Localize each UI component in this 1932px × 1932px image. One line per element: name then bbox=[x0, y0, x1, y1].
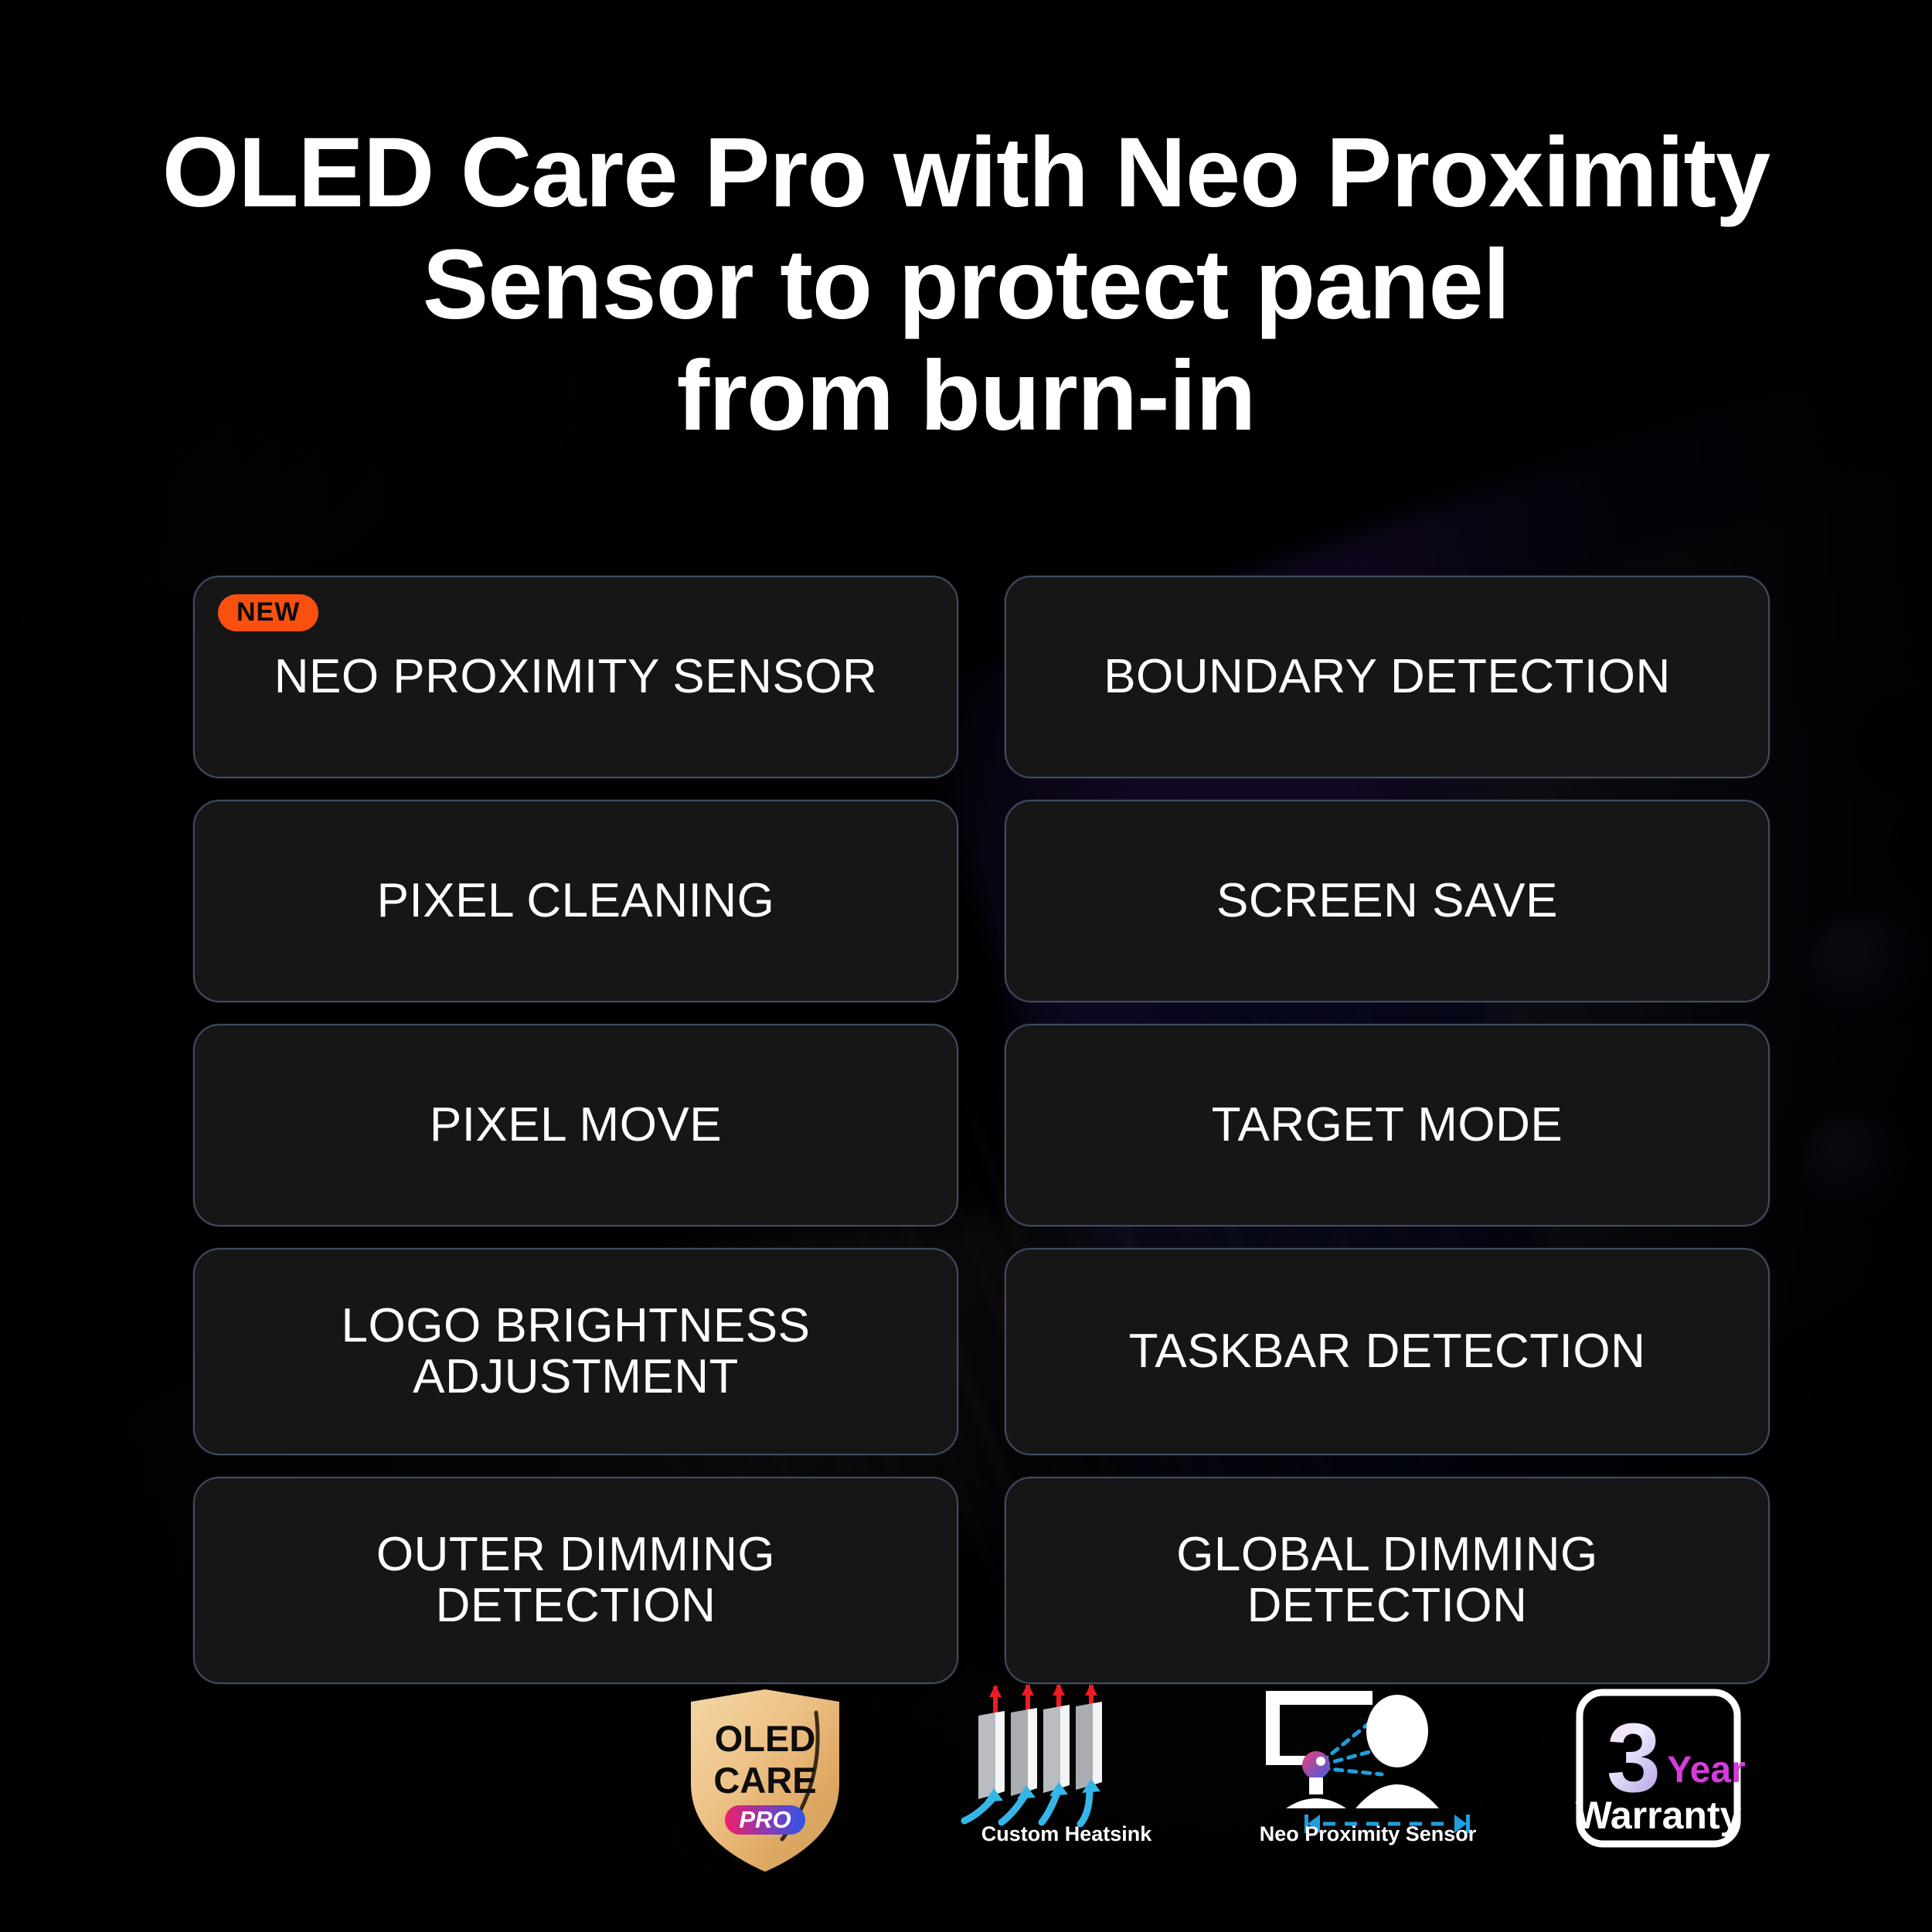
feature-card-grid: NEW NEO PROXIMITY SENSOR BOUNDARY DETECT… bbox=[193, 576, 1770, 1684]
page-title: OLED Care Pro with Neo Proximity Sensor … bbox=[0, 117, 1932, 453]
feature-card-label: PIXEL CLEANING bbox=[377, 876, 775, 927]
new-badge: NEW bbox=[218, 594, 318, 631]
feature-card-label: TASKBAR DETECTION bbox=[1129, 1326, 1646, 1377]
feature-card-global-dimming-detection[interactable]: GLOBAL DIMMING DETECTION bbox=[1005, 1477, 1770, 1684]
feature-card-label: PIXEL MOVE bbox=[430, 1100, 722, 1151]
heatsink-icon bbox=[951, 1685, 1182, 1839]
feature-card-label: NEO PROXIMITY SENSOR bbox=[274, 651, 878, 702]
custom-heatsink-badge bbox=[951, 1685, 1182, 1843]
promo-banner: OLED Care Pro with Neo Proximity Sensor … bbox=[0, 0, 1932, 1932]
feature-card-label: BOUNDARY DETECTION bbox=[1104, 651, 1671, 702]
feature-card-target-mode[interactable]: TARGET MODE bbox=[1005, 1024, 1770, 1226]
shield-line1: OLED bbox=[715, 1718, 816, 1759]
neo-proximity-sensor-badge bbox=[1229, 1685, 1507, 1843]
badge-caption-row: Custom Heatsink Neo Proximity Sensor bbox=[0, 1822, 1932, 1856]
badge-row: OLED CARE PRO bbox=[0, 1685, 1932, 1909]
proximity-sensor-icon bbox=[1229, 1685, 1507, 1839]
feature-card-pixel-cleaning[interactable]: PIXEL CLEANING bbox=[193, 800, 958, 1002]
feature-card-label: SCREEN SAVE bbox=[1216, 876, 1558, 927]
feature-card-boundary-detection[interactable]: BOUNDARY DETECTION bbox=[1005, 576, 1770, 778]
feature-card-outer-dimming-detection[interactable]: OUTER DIMMING DETECTION bbox=[193, 1477, 958, 1684]
proximity-caption: Neo Proximity Sensor bbox=[1206, 1822, 1530, 1846]
shield-line2: CARE bbox=[713, 1760, 816, 1801]
feature-card-label: GLOBAL DIMMING DETECTION bbox=[1176, 1529, 1598, 1631]
background-screw-icon bbox=[1808, 912, 1924, 1028]
warranty-unit: Year bbox=[1667, 1750, 1745, 1791]
feature-card-neo-proximity-sensor[interactable]: NEW NEO PROXIMITY SENSOR bbox=[193, 576, 958, 778]
feature-card-label: LOGO BRIGHTNESS ADJUSTMENT bbox=[342, 1301, 811, 1402]
feature-card-label: OUTER DIMMING DETECTION bbox=[376, 1529, 775, 1631]
feature-card-logo-brightness-adjustment[interactable]: LOGO BRIGHTNESS ADJUSTMENT bbox=[193, 1248, 958, 1455]
feature-card-taskbar-detection[interactable]: TASKBAR DETECTION bbox=[1005, 1248, 1770, 1455]
heatsink-caption: Custom Heatsink bbox=[912, 1822, 1221, 1846]
feature-card-screen-save[interactable]: SCREEN SAVE bbox=[1005, 800, 1770, 1002]
feature-card-pixel-move[interactable]: PIXEL MOVE bbox=[193, 1024, 958, 1226]
feature-card-label: TARGET MODE bbox=[1212, 1100, 1563, 1151]
